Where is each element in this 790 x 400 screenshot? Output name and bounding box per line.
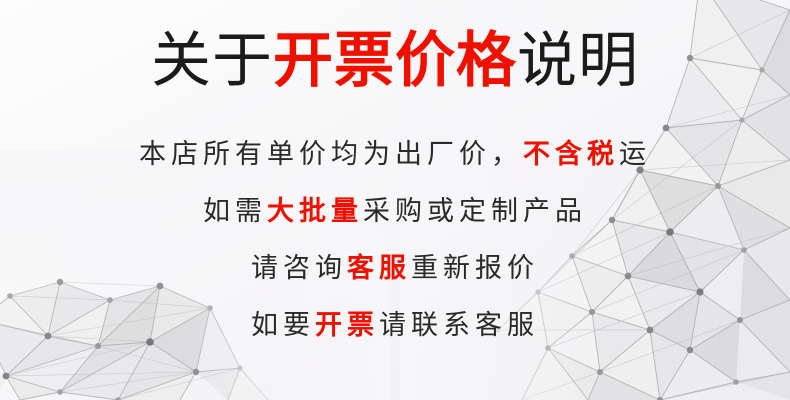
notice-line-4-prefix: 如要 [251, 310, 315, 340]
notice-line-2-prefix: 如需 [203, 196, 267, 226]
notice-line-1-prefix: 本店所有单价均为出厂价， [139, 139, 523, 169]
invoice-price-notice-banner: 关于开票价格说明 本店所有单价均为出厂价，不含税运 如需大批量采购或定制产品 请… [0, 0, 790, 400]
notice-line-3-suffix: 重新报价 [411, 253, 539, 283]
banner-text-content: 关于开票价格说明 本店所有单价均为出厂价，不含税运 如需大批量采购或定制产品 请… [0, 0, 790, 400]
notice-line-3-highlight: 客服 [347, 253, 411, 283]
notice-line-2-suffix: 采购或定制产品 [363, 196, 587, 226]
notice-line-3-prefix: 请咨询 [251, 253, 347, 283]
notice-line-1-suffix: 运 [619, 139, 651, 169]
notice-line-1: 本店所有单价均为出厂价，不含税运 [0, 137, 790, 171]
page-title: 关于开票价格说明 [0, 24, 790, 98]
notice-line-2: 如需大批量采购或定制产品 [0, 194, 790, 228]
notice-line-4: 如要开票请联系客服 [0, 308, 790, 342]
page-title-suffix: 说明 [517, 27, 639, 94]
page-title-highlight: 开票价格 [273, 27, 517, 94]
notice-line-2-highlight: 大批量 [267, 196, 363, 226]
notice-line-4-suffix: 请联系客服 [379, 310, 539, 340]
notice-line-3: 请咨询客服重新报价 [0, 251, 790, 285]
notice-line-1-highlight: 不含税 [523, 139, 619, 169]
notice-line-4-highlight: 开票 [315, 310, 379, 340]
page-title-prefix: 关于 [151, 27, 273, 94]
